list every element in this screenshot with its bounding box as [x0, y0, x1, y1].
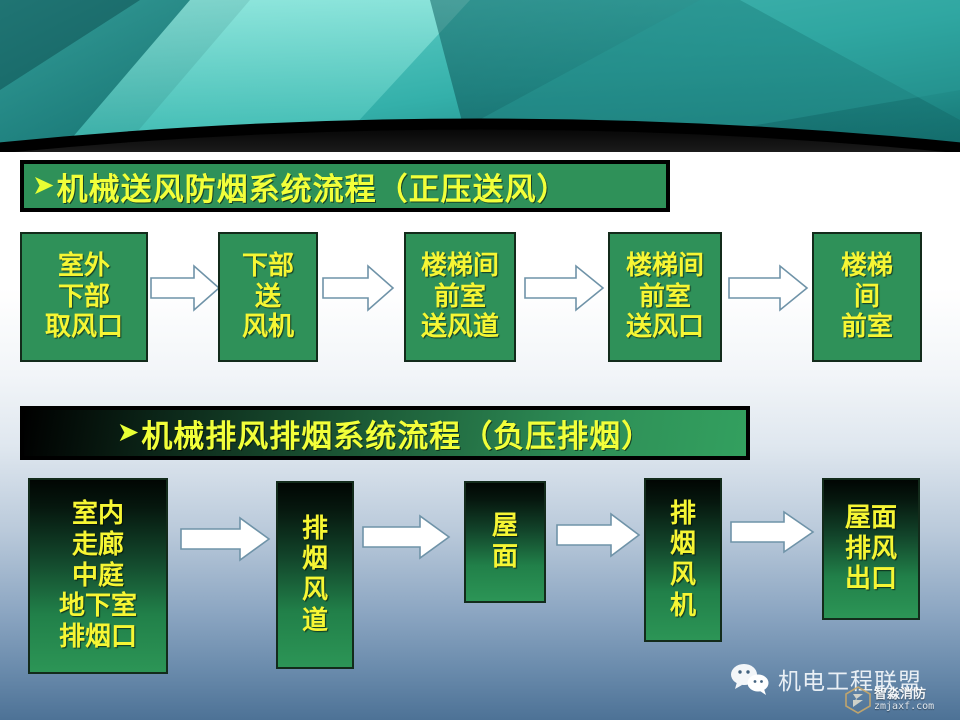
watermark-url: zmjaxf.com [874, 702, 934, 712]
flow-box-label: 下部 送 风机 [242, 251, 294, 343]
flow-box-label: 排 烟 风 机 [670, 499, 696, 622]
flow-box-label: 屋面 排风 出口 [845, 503, 897, 595]
watermark-labels: 智淼消防 zmjaxf.com [874, 688, 934, 712]
flow-box-stair-vestibule-supply-outlet[interactable]: 楼梯间 前室 送风口 [608, 232, 722, 362]
zhimiao-logo-icon [845, 686, 871, 714]
flow-box-stair-vestibule-supply-duct[interactable]: 楼梯间 前室 送风道 [404, 232, 516, 362]
section-title-exhaust: ➤ 机械排风排烟系统流程（负压排烟） [20, 406, 750, 460]
flow-arrow-supply-1 [150, 265, 220, 311]
section-title-supply-text: 机械送风防烟系统流程（正压送风） [57, 164, 569, 209]
flow-box-smoke-exhaust-fan[interactable]: 排 烟 风 机 [644, 478, 722, 642]
flow-box-outdoor-lower-air-intake[interactable]: 室外 下部 取风口 [20, 232, 148, 362]
flow-box-roof[interactable]: 屋 面 [464, 481, 546, 603]
flow-box-label: 楼梯间 前室 送风道 [421, 251, 499, 343]
watermark-title: 智淼消防 [874, 688, 934, 701]
flow-box-label: 楼梯 间 前室 [841, 251, 893, 343]
wechat-icon [730, 662, 770, 696]
bullet-arrow-icon: ➤ [117, 419, 140, 446]
flow-box-indoor-corridor-atrium-basement-smoke-inlet[interactable]: 室内 走廊 中庭 地下室 排烟口 [28, 478, 168, 674]
section-title-exhaust-text: 机械排风排烟系统流程（负压排烟） [141, 411, 653, 456]
decorative-header-banner [0, 0, 960, 152]
flow-arrow-exhaust-4 [730, 511, 814, 553]
flow-box-stair-vestibule[interactable]: 楼梯 间 前室 [812, 232, 922, 362]
section-title-supply: ➤ 机械送风防烟系统流程（正压送风） [20, 160, 670, 212]
watermark: 智淼消防 zmjaxf.com [845, 686, 934, 714]
flow-box-roof-exhaust-outlet[interactable]: 屋面 排风 出口 [822, 478, 920, 620]
flow-arrow-supply-3 [524, 265, 604, 311]
flow-box-smoke-exhaust-duct[interactable]: 排 烟 风 道 [276, 481, 354, 669]
flow-arrow-supply-4 [728, 265, 808, 311]
flow-box-label: 室内 走廊 中庭 地下室 排烟口 [59, 499, 137, 652]
bullet-arrow-icon: ➤ [32, 172, 55, 199]
flow-arrow-exhaust-3 [556, 513, 640, 557]
flow-box-label: 屋 面 [492, 511, 518, 572]
flow-box-lower-supply-fan[interactable]: 下部 送 风机 [218, 232, 318, 362]
slide-root: ➤ 机械送风防烟系统流程（正压送风） 室外 下部 取风口 下部 送 风机 楼梯间… [0, 0, 960, 720]
flow-arrow-exhaust-1 [180, 517, 270, 561]
flow-box-label: 室外 下部 取风口 [45, 251, 123, 343]
flow-arrow-supply-2 [322, 265, 394, 311]
flow-arrow-exhaust-2 [362, 515, 450, 559]
flow-box-label: 楼梯间 前室 送风口 [626, 251, 704, 343]
flow-box-label: 排 烟 风 道 [302, 514, 328, 637]
